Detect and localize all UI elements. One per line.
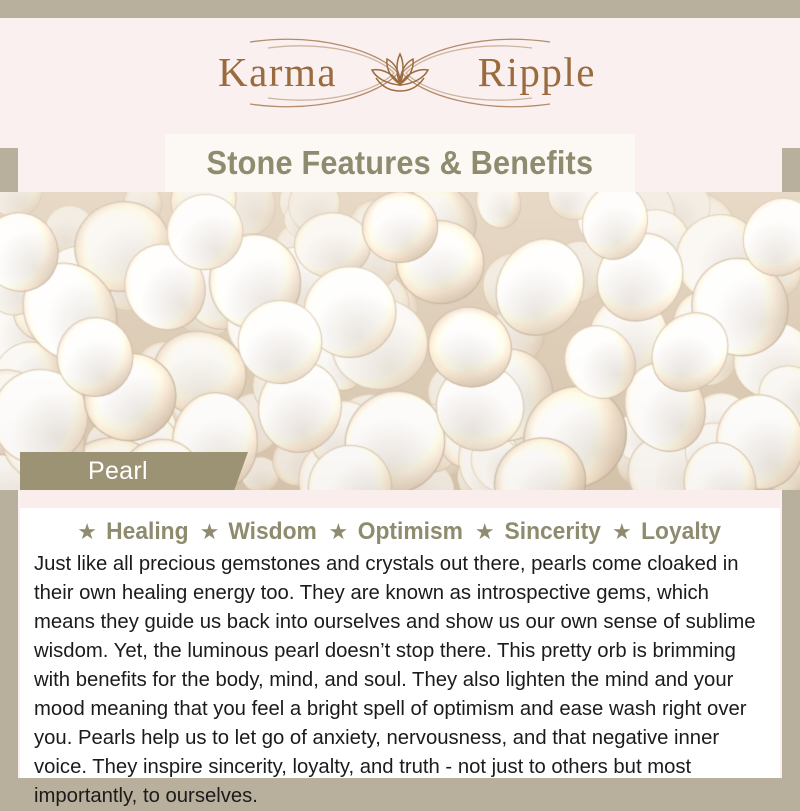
keyword-label: Sincerity: [504, 518, 600, 546]
brand-name-left: Karma: [218, 48, 337, 96]
corner-accent-top-right: [680, 0, 800, 18]
keyword-label: Healing: [106, 518, 188, 546]
star-icon: ★: [612, 521, 632, 543]
stone-name-label: Pearl: [88, 457, 148, 486]
poster-root: Karma Ripple Stone Features & Benefits P…: [0, 0, 800, 800]
keyword-list: ★Healing★Wisdom★Optimism★Sincerity★Loyal…: [20, 508, 780, 546]
keyword-label: Wisdom: [229, 518, 317, 546]
star-icon: ★: [77, 521, 97, 543]
keyword-item-loyalty: ★Loyalty: [612, 518, 723, 546]
keyword-label: Loyalty: [641, 518, 721, 546]
star-icon: ★: [475, 521, 495, 543]
content-top-strip: [20, 490, 780, 508]
keyword-item-wisdom: ★Wisdom: [200, 518, 320, 546]
page-title: Stone Features & Benefits: [207, 144, 594, 182]
keyword-label: Optimism: [358, 518, 463, 546]
star-icon: ★: [200, 521, 220, 543]
keyword-item-sincerity: ★Sincerity: [475, 518, 603, 546]
pearl-photo-canvas: [0, 192, 800, 490]
stone-name-banner: Pearl: [20, 452, 248, 490]
description-paragraph: Just like all precious gemstones and cry…: [34, 550, 766, 811]
star-icon: ★: [328, 521, 348, 543]
brand-name-right: Ripple: [478, 48, 596, 96]
content-panel: ★Healing★Wisdom★Optimism★Sincerity★Loyal…: [20, 508, 780, 778]
section-title-band: Stone Features & Benefits: [165, 134, 635, 192]
keyword-item-optimism: ★Optimism: [328, 518, 465, 546]
keyword-item-healing: ★Healing: [77, 518, 190, 546]
brand-logo: Karma Ripple: [0, 34, 800, 116]
stone-photo: [0, 192, 800, 490]
